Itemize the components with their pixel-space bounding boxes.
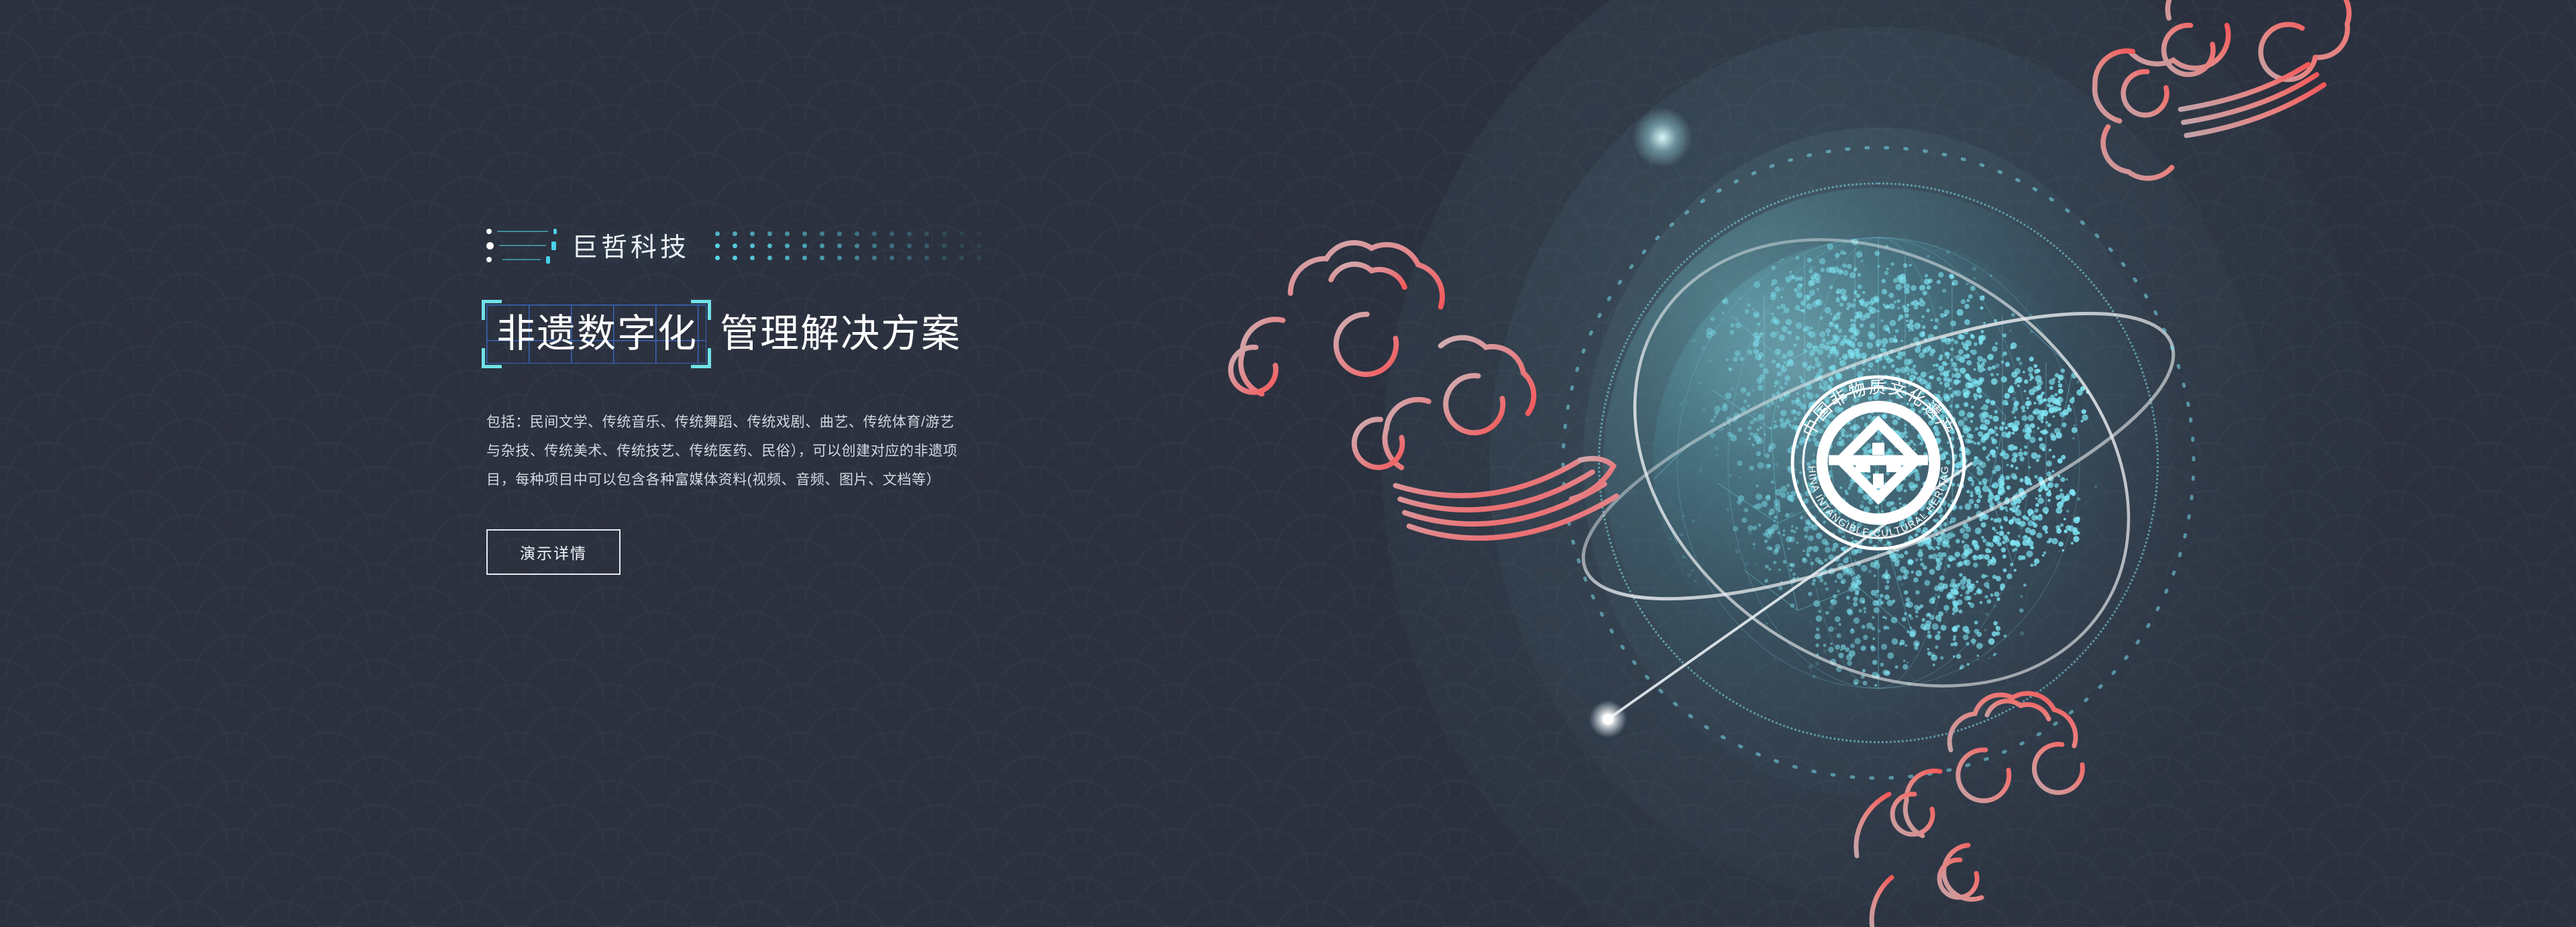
grid-dot [959, 256, 964, 260]
grid-dot [733, 231, 737, 236]
page-title: 非遗数字化 管理解决方案 [486, 305, 1278, 364]
hero-description: 包括：民间文学、传统音乐、传统舞蹈、传统戏剧、曲艺、传统体育/游艺 与杂技、传统… [486, 408, 1164, 494]
ornament-dot-white [486, 229, 492, 234]
background-pattern-layer2 [0, 0, 2576, 927]
ornament-bar [502, 259, 541, 260]
grid-dot [924, 256, 929, 260]
dot-grid-ornament [715, 231, 994, 260]
ornament-bar [497, 231, 548, 232]
grid-dot [977, 243, 981, 248]
grid-dot [890, 231, 894, 236]
grid-dot [785, 231, 790, 236]
ornament-line-1 [486, 228, 557, 235]
dot-grid-row [715, 243, 994, 248]
ornament-dot-cyan [546, 256, 550, 264]
grid-dot [855, 256, 859, 260]
grid-dot [924, 243, 929, 248]
grid-dot [855, 231, 859, 236]
demo-details-button[interactable]: 演示详情 [486, 529, 621, 575]
title-rest-text: 管理解决方案 [720, 315, 961, 353]
grid-dot [959, 231, 964, 236]
brand-name: 巨哲科技 [572, 227, 690, 264]
grid-dot [767, 256, 772, 260]
grid-dot [942, 256, 947, 260]
grid-dot [785, 256, 790, 260]
grid-dot [907, 231, 912, 236]
grid-dot [750, 256, 755, 260]
grid-dot [715, 243, 720, 248]
grid-dot [802, 231, 807, 236]
grid-dot [750, 243, 755, 248]
grid-dot [802, 243, 807, 248]
ornament-line-2 [486, 242, 557, 249]
dot-grid-row [715, 231, 994, 236]
grid-dot [820, 256, 824, 260]
grid-dot [750, 231, 755, 236]
grid-dot [855, 243, 859, 248]
grid-dot [715, 256, 720, 260]
grid-dot [959, 243, 964, 248]
grid-dot [802, 256, 807, 260]
ornament-dot-white [486, 257, 492, 262]
grid-dot [872, 256, 877, 260]
grid-dot [785, 243, 790, 248]
ornament-dot-cyan [551, 241, 556, 250]
grid-dot [907, 256, 912, 260]
grid-dot [924, 231, 929, 236]
grid-dot [733, 256, 737, 260]
grid-dot [872, 243, 877, 248]
ornament-bar [499, 245, 546, 246]
grid-dot [715, 231, 720, 236]
grid-dot [820, 243, 824, 248]
title-highlight-text: 非遗数字化 [496, 312, 698, 356]
grid-dot [890, 256, 894, 260]
grid-dot [837, 231, 842, 236]
grid-dot [942, 231, 947, 236]
description-line: 目，每种项目中可以包含各种富媒体资料(视频、音频、图片、文档等） [486, 466, 1164, 494]
hero-content: 巨哲科技 非遗数字化 管理解决方案 包括：民间文学、传统音乐、传统舞蹈、传统戏剧… [486, 221, 1278, 575]
grid-dot [907, 243, 912, 248]
grid-dot [837, 256, 842, 260]
grid-dot [890, 243, 894, 248]
grid-dot [837, 243, 842, 248]
ornament-dot-white [486, 242, 494, 250]
grid-dot [977, 256, 981, 260]
ornament-dot-cyan [553, 229, 557, 234]
hero-banner: 中国非物质文化遗产 CHINA INTANGIBLE CULTURAL HERI… [0, 0, 2576, 927]
title-highlight-frame: 非遗数字化 [486, 305, 706, 364]
brand-row: 巨哲科技 [486, 221, 1278, 270]
dotted-line-ornament [486, 228, 557, 263]
grid-dot [977, 231, 981, 236]
dot-grid-row [715, 256, 994, 260]
grid-dot [767, 231, 772, 236]
grid-dot [872, 231, 877, 236]
description-line: 包括：民间文学、传统音乐、传统舞蹈、传统戏剧、曲艺、传统体育/游艺 [486, 408, 1164, 437]
description-line: 与杂技、传统美术、传统技艺、传统医药、民俗），可以创建对应的非遗项 [486, 437, 1164, 466]
grid-dot [767, 243, 772, 248]
ornament-line-3 [486, 256, 557, 263]
grid-dot [820, 231, 824, 236]
grid-dot [942, 243, 947, 248]
grid-dot [733, 243, 737, 248]
